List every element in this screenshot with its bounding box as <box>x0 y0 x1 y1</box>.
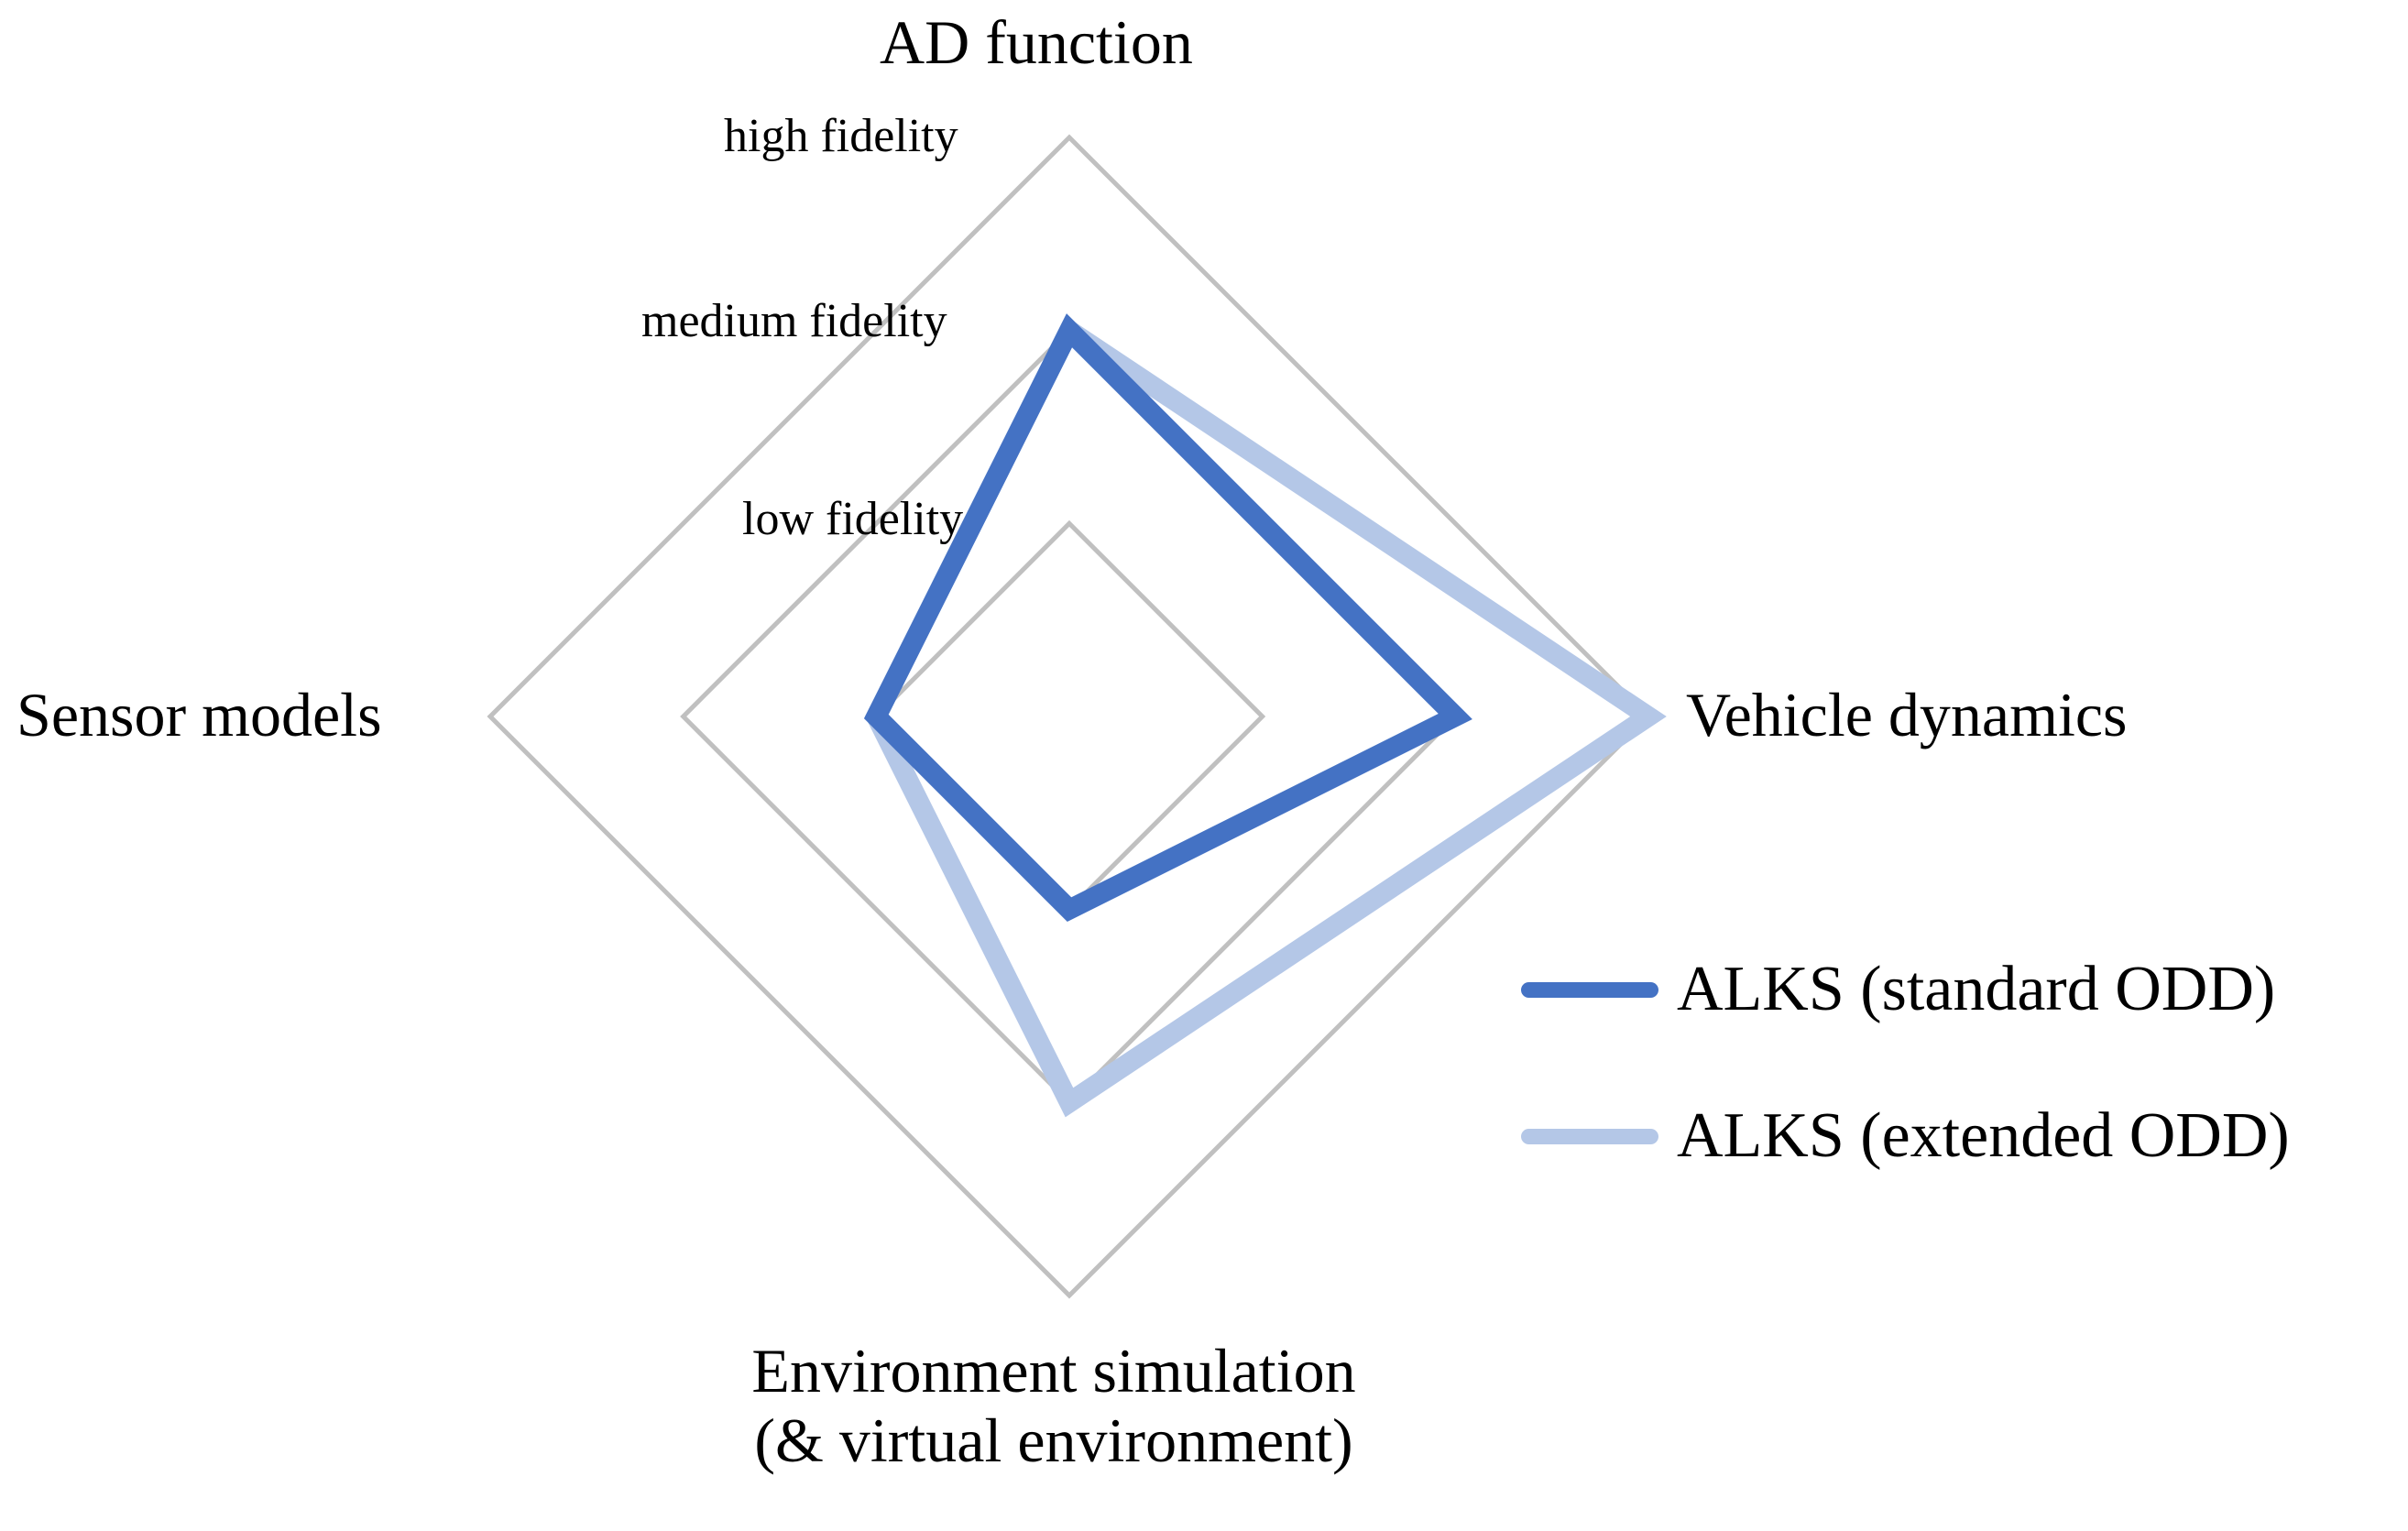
axis-label-environment-simulation: Environment simulation (& virtual enviro… <box>678 1336 1429 1475</box>
legend-item-extended-odd[interactable]: ALKS (extended ODD) <box>1521 1063 2401 1209</box>
chart-legend: ALKS (standard ODD) ALKS (extended ODD) <box>1521 916 2401 1209</box>
axis-label-environment-line1: Environment simulation <box>678 1336 1429 1405</box>
radar-chart-figure: AD function Vehicle dynamics Sensor mode… <box>0 0 2408 1531</box>
legend-swatch-extended-odd <box>1521 1129 1658 1144</box>
tick-label-medium-fidelity: medium fidelity <box>641 295 947 347</box>
legend-label-extended-odd: ALKS (extended ODD) <box>1677 1099 2290 1173</box>
tick-label-low-fidelity: low fidelity <box>742 493 963 545</box>
axis-label-ad-function: AD function <box>880 7 1193 77</box>
axis-label-vehicle-dynamics: Vehicle dynamics <box>1686 680 2128 749</box>
legend-swatch-standard-odd <box>1521 982 1658 998</box>
tick-label-high-fidelity: high fidelity <box>724 110 958 162</box>
radar-plot-area <box>0 0 2408 1531</box>
axis-label-sensor-models: Sensor models <box>16 680 382 749</box>
legend-item-standard-odd[interactable]: ALKS (standard ODD) <box>1521 916 2401 1063</box>
grid-ring-2 <box>684 331 1456 1103</box>
legend-label-standard-odd: ALKS (standard ODD) <box>1677 953 2275 1026</box>
axis-label-environment-line2: (& virtual environment) <box>678 1405 1429 1475</box>
